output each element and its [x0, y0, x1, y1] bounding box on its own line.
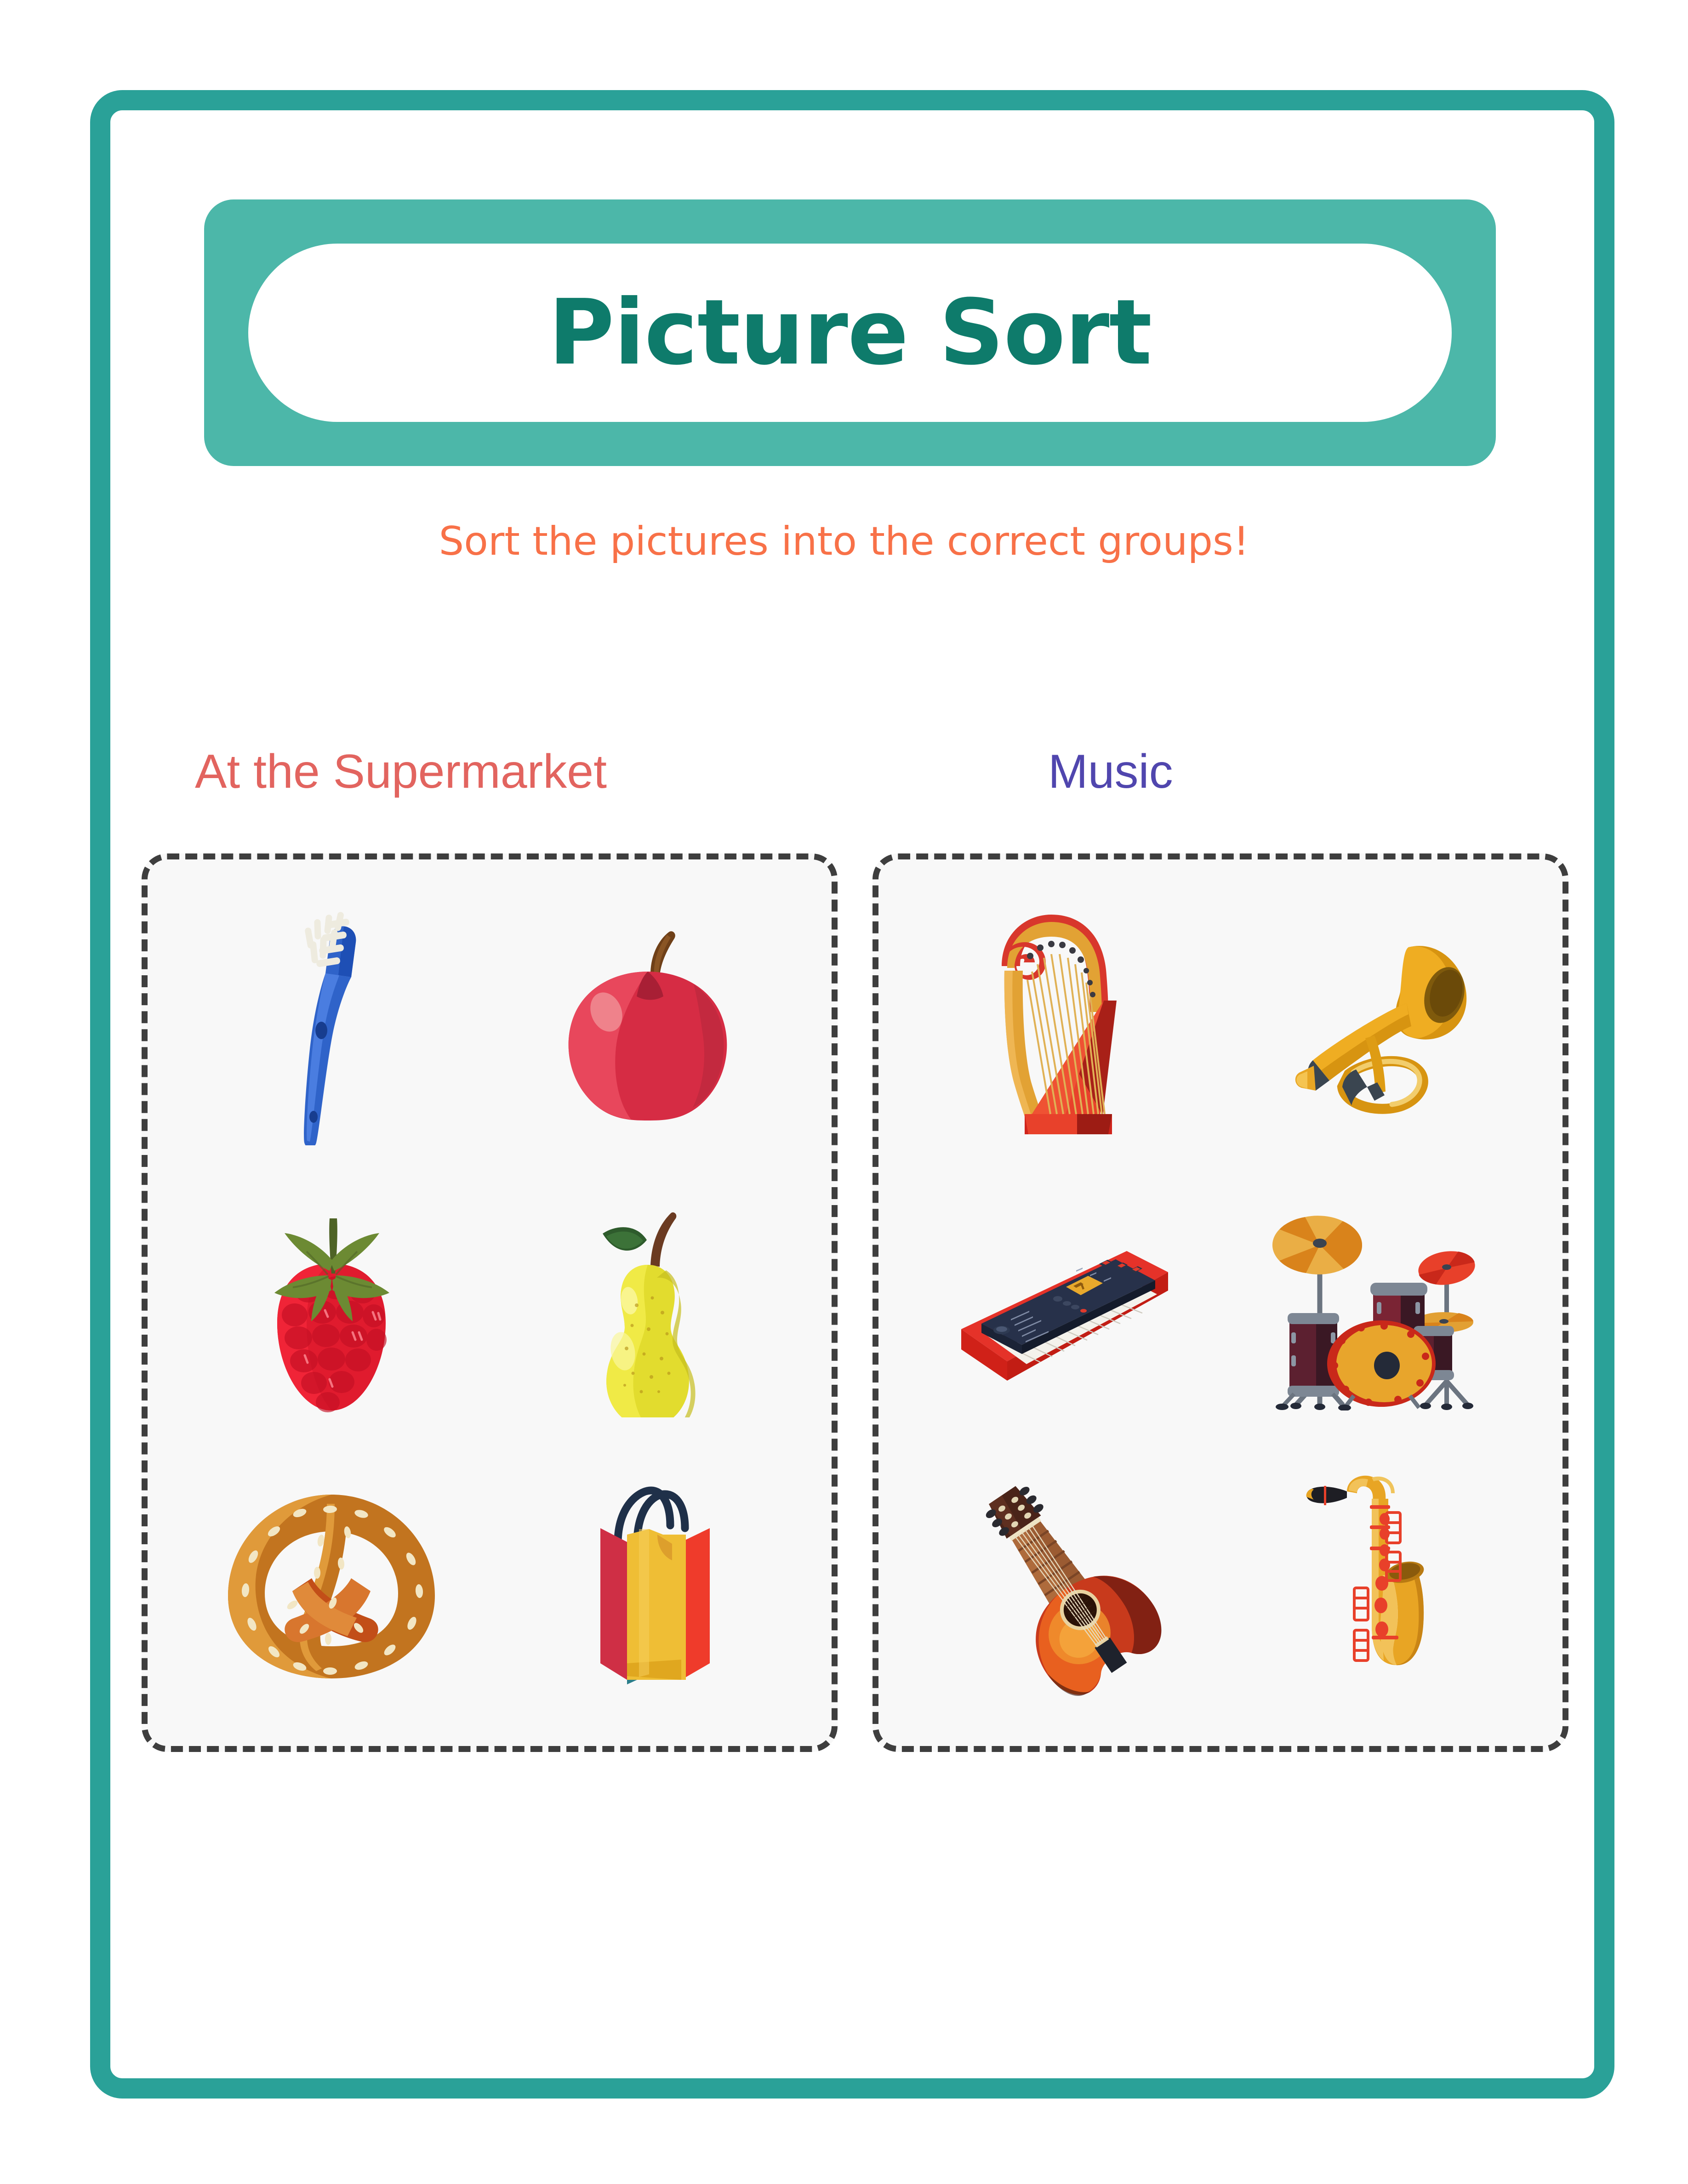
picture-cell[interactable] — [173, 1162, 490, 1443]
picture-cell[interactable] — [904, 881, 1220, 1162]
group-heading-supermarket: At the Supermarket — [195, 748, 607, 796]
pear-icon — [560, 1188, 735, 1417]
page-title: Picture Sort — [548, 288, 1152, 378]
picture-grid-music — [878, 859, 1563, 1746]
picture-grid-supermarket — [148, 859, 832, 1746]
shopping-bag-icon — [549, 1474, 747, 1695]
picture-cell[interactable] — [1220, 881, 1537, 1162]
raspberry-icon — [240, 1190, 423, 1415]
toothbrush-icon — [256, 897, 407, 1145]
picture-cell[interactable] — [173, 1444, 490, 1725]
worksheet-page: Picture Sort Sort the pictures into the … — [0, 0, 1688, 2184]
instruction-text: Sort the pictures into the correct group… — [0, 522, 1688, 561]
picture-cell[interactable] — [904, 1444, 1220, 1725]
picture-cell[interactable] — [173, 881, 490, 1162]
picture-cell[interactable] — [490, 1444, 806, 1725]
picture-cell[interactable] — [490, 1162, 806, 1443]
guitar-icon — [954, 1469, 1170, 1699]
pretzel-icon — [210, 1476, 453, 1692]
sort-boxes — [142, 853, 1568, 1752]
sort-box-supermarket[interactable] — [142, 853, 838, 1752]
trumpet-icon — [1271, 922, 1487, 1120]
apple-icon — [542, 920, 753, 1122]
group-headings: At the Supermarket Music — [138, 748, 1572, 821]
keyboard-icon — [943, 1215, 1182, 1390]
group-heading-music: Music — [1048, 748, 1173, 796]
harp-icon — [970, 902, 1154, 1141]
title-banner-inner: Picture Sort — [248, 244, 1452, 422]
picture-cell[interactable] — [1220, 1444, 1537, 1725]
picture-cell[interactable] — [490, 881, 806, 1162]
title-banner: Picture Sort — [204, 199, 1496, 466]
picture-cell[interactable] — [1220, 1162, 1537, 1443]
saxophone-icon — [1303, 1465, 1454, 1704]
drum-set-icon — [1264, 1194, 1494, 1410]
sort-box-music[interactable] — [873, 853, 1568, 1752]
picture-cell[interactable] — [904, 1162, 1220, 1443]
